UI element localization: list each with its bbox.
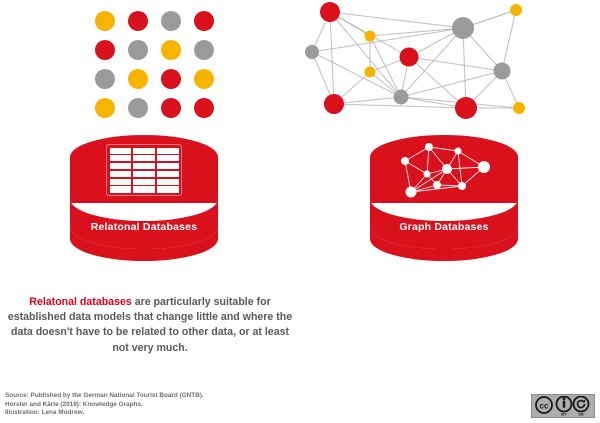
relational-panel: Relatonal Databases Relatonal databases … [0,0,300,380]
graph-node [425,143,433,151]
graph-edge [502,10,516,71]
graph-edge [427,147,429,174]
table-cell [157,179,179,185]
graph-edge [334,97,401,104]
relational-caption-lead: Relatonal databases [29,296,131,308]
table-cell [110,186,132,192]
source-line-1: Source: Published by the German National… [5,392,204,401]
dot-0-2 [161,11,181,31]
dot-3-2 [161,98,181,118]
graph-node [305,45,319,59]
source-line-2: Horster and Kärle (2019): Knowledge Grap… [5,401,204,410]
dot-0-3 [194,11,214,31]
graph-node [513,102,525,114]
graph-node [320,2,340,22]
graph-database-cylinder: Graph Databases [368,133,520,261]
table-cell [133,179,155,185]
cc-badge-icons: cc BY SA [533,396,593,416]
dot-0-1 [128,11,148,31]
graph-edge [330,12,463,28]
table-cell [133,155,155,161]
table-cell [157,163,179,169]
dot-0-0 [95,11,115,31]
graph-node [478,161,490,173]
source-credits: Source: Published by the German National… [5,392,204,418]
table-cell [133,186,155,192]
dot-3-0 [95,98,115,118]
graph-node [400,48,419,67]
graph-edge [429,147,458,151]
dot-2-1 [128,69,148,89]
graph-node [406,187,417,198]
graph-edge [330,12,334,104]
graph-node [394,90,409,105]
table-cell [110,163,132,169]
graph-edge [370,28,463,36]
dot-3-3 [194,98,214,118]
source-line-3: Illustration: Lena Modrow. [5,409,204,418]
node-network-icon [396,141,496,199]
dot-1-1 [128,40,148,60]
graph-node [455,148,462,155]
graph-node [442,164,452,174]
dot-2-0 [95,69,115,89]
graph-node [510,4,522,16]
graph-node [452,17,474,39]
dot-grid [88,6,220,122]
graph-node [324,94,344,114]
graph-node [365,67,376,78]
table-cell [110,179,132,185]
graph-panel: Graph Databases Graph databases are part… [300,0,600,380]
svg-text:BY: BY [561,412,567,417]
graph-edge [463,28,466,108]
graph-edge [405,147,429,161]
graph-edge [312,52,401,97]
table-cell [110,171,132,177]
graph-network [300,0,600,122]
infographic-canvas: Relatonal Databases Relatonal databases … [0,0,600,423]
graph-node [365,31,376,42]
dot-1-0 [95,40,115,60]
table-grid-icon [106,144,182,196]
dot-1-2 [161,40,181,60]
table-cell [110,148,132,154]
dot-1-3 [194,40,214,60]
graph-node [494,63,511,80]
dot-2-3 [194,69,214,89]
svg-text:cc: cc [540,402,549,411]
relational-database-cylinder: Relatonal Databases [68,133,220,261]
graph-node [433,181,441,189]
graph-node [455,97,477,119]
creative-commons-by-sa-badge: cc BY SA [531,394,595,418]
table-cell [133,148,155,154]
graph-edge [401,71,502,97]
table-cell [157,155,179,161]
graph-edge [330,12,401,97]
table-cell [133,171,155,177]
graph-node [458,182,466,190]
table-cell [157,186,179,192]
table-cell [157,148,179,154]
dot-2-2 [161,69,181,89]
svg-text:SA: SA [578,412,584,417]
graph-node [401,157,409,165]
graph-node [424,171,431,178]
dot-3-1 [128,98,148,118]
table-cell [110,155,132,161]
relational-caption: Relatonal databases are particularly sui… [5,295,295,356]
table-cell [157,171,179,177]
table-cell [133,163,155,169]
